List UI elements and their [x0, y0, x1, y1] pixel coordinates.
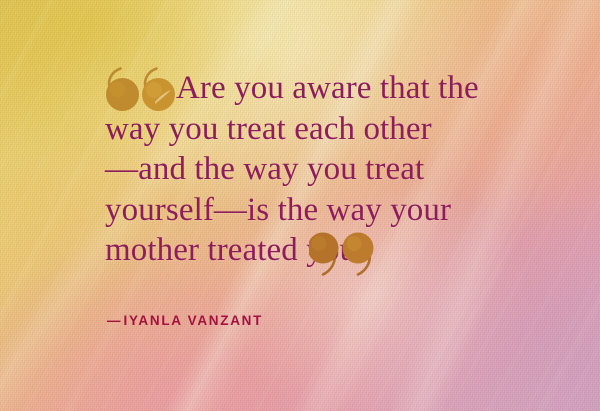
attribution: —IYANLA VANZANT — [107, 313, 263, 328]
attribution-name: IYANLA VANZANT — [124, 313, 264, 328]
quote-line-4: yourself—is the way your — [105, 190, 505, 231]
attribution-dash: — — [107, 313, 124, 328]
open-quote-icon — [105, 66, 177, 116]
card-content: Are you aware that the way you treat eac… — [0, 0, 600, 411]
quote-last-line-wrap: mother treated you? — [105, 230, 371, 271]
quote-line-5-row: mother treated you? — [105, 230, 505, 271]
quote-card: Are you aware that the way you treat eac… — [0, 0, 600, 411]
quote-block: Are you aware that the way you treat eac… — [105, 68, 505, 271]
quote-line-3: —and the way you treat — [105, 149, 505, 190]
close-quote-icon — [309, 231, 375, 279]
